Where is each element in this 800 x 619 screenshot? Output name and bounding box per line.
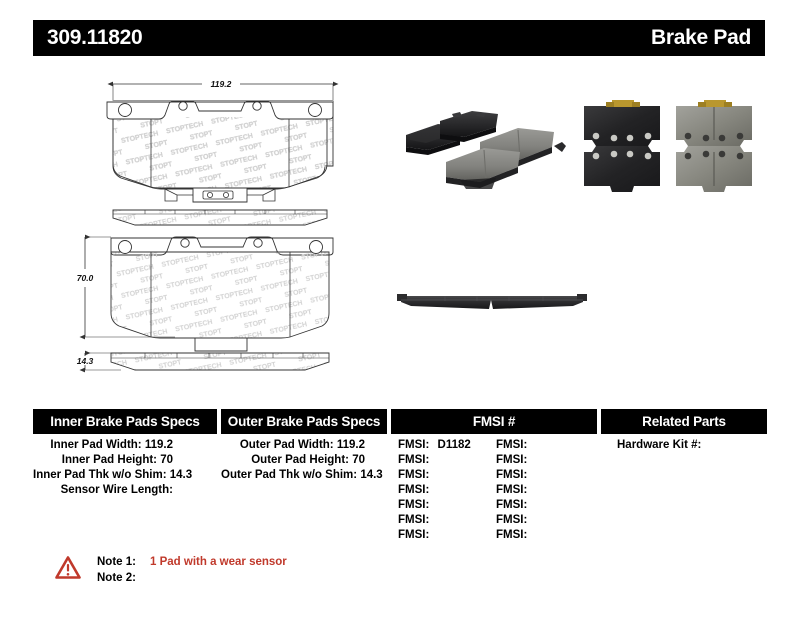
table-header-related-parts: Related Parts — [601, 409, 767, 434]
fmsi-row: FMSI: — [496, 513, 594, 528]
fmsi-subcolumn-right: FMSI: FMSI: FMSI: FMSI: — [496, 438, 594, 543]
pad-flat-top-right — [676, 100, 752, 146]
fmsi-row: FMSI: — [496, 483, 594, 498]
table-body: Inner Pad Width: 119.2 Inner Pad Height:… — [33, 438, 763, 543]
fmsi-row: FMSI: — [398, 483, 496, 498]
part-number: 309.11820 — [47, 26, 142, 50]
fmsi-label-l6: FMSI: — [398, 528, 429, 543]
pad-outline-front — [107, 101, 333, 202]
fmsi-value-l0: D1182 — [433, 438, 471, 453]
outer-spec-value-2: 14.3 — [360, 469, 382, 481]
fmsi-row: FMSI: — [398, 453, 496, 468]
related-parts-column: Hardware Kit #: — [601, 438, 767, 543]
related-part-label-0: Hardware Kit #: — [617, 439, 701, 451]
related-part-row: Hardware Kit #: — [601, 438, 767, 453]
specs-table: Inner Brake Pads Specs Outer Brake Pads … — [33, 409, 763, 543]
inner-spec-value-1: 70 — [160, 454, 173, 466]
outer-specs-column: Outer Pad Width: 119.2 Outer Pad Height:… — [221, 438, 387, 543]
fmsi-label-r1: FMSI: — [496, 453, 527, 468]
pad-flat-top-left — [584, 100, 660, 146]
outer-spec-value-0: 119.2 — [337, 439, 365, 451]
fmsi-row: FMSI: — [496, 468, 594, 483]
inner-spec-row: Inner Pad Width: 119.2 — [33, 438, 217, 453]
fmsi-row: FMSI: — [496, 438, 594, 453]
fmsi-row: FMSI: — [398, 528, 496, 543]
fmsi-label-r5: FMSI: — [496, 513, 527, 528]
outer-spec-label-1: Outer Pad Height: — [251, 454, 349, 466]
table-header-fmsi: FMSI # — [391, 409, 597, 434]
inner-spec-value-2: 14.3 — [170, 469, 192, 481]
inner-spec-row: Sensor Wire Length: — [33, 483, 217, 498]
fmsi-label-r6: FMSI: — [496, 528, 527, 543]
warning-triangle-icon — [55, 555, 81, 581]
fmsi-label-r3: FMSI: — [496, 483, 527, 498]
outer-spec-value-1: 70 — [352, 454, 365, 466]
fmsi-label-r2: FMSI: — [496, 468, 527, 483]
fmsi-subcolumn-left: FMSI: D1182 FMSI: FMSI: FMSI: — [398, 438, 496, 543]
brake-pad-spec-sheet: 309.11820 Brake Pad STOPTECH STOPTECH — [0, 0, 800, 619]
photo-angled-pad-group — [400, 90, 575, 200]
inner-specs-column: Inner Pad Width: 119.2 Inner Pad Height:… — [33, 438, 217, 543]
notes-section: Note 1: 1 Pad with a wear sensor Note 2: — [55, 553, 475, 586]
dimension-label-width: 119.2 — [211, 79, 232, 89]
outer-spec-row: Outer Pad Width: 119.2 — [221, 438, 387, 453]
pad-flat-bottom-left — [584, 146, 660, 192]
note-row-1: Note 1: 1 Pad with a wear sensor — [97, 554, 287, 570]
fmsi-label-r4: FMSI: — [496, 498, 527, 513]
pad-flat-bottom-right — [676, 146, 752, 192]
fmsi-row: FMSI: — [398, 468, 496, 483]
fmsi-label-l4: FMSI: — [398, 498, 429, 513]
pad-photo-2 — [440, 111, 498, 142]
pad-edge-profile-side — [111, 353, 329, 370]
fmsi-label-l1: FMSI: — [398, 453, 429, 468]
fmsi-label-l5: FMSI: — [398, 513, 429, 528]
notes-text-block: Note 1: 1 Pad with a wear sensor Note 2: — [97, 553, 287, 586]
pad-edge-profile-front — [113, 210, 327, 225]
drawing-side-view: STOPTECH STOPTECH 70.0 — [105, 225, 355, 380]
dimension-width-119: 119.2 — [113, 79, 333, 100]
fmsi-row: FMSI: — [496, 453, 594, 468]
inner-spec-row: Inner Pad Thk w/o Shim: 14.3 — [33, 468, 217, 483]
note-label-2: Note 2: — [97, 570, 143, 586]
outer-spec-label-0: Outer Pad Width: — [240, 439, 334, 451]
fmsi-label-r0: FMSI: — [496, 438, 527, 453]
note-value-1: 1 Pad with a wear sensor — [143, 554, 287, 570]
fmsi-label-l2: FMSI: — [398, 468, 429, 483]
outer-spec-row: Outer Pad Height: 70 — [221, 453, 387, 468]
dimension-label-height: 70.0 — [77, 273, 94, 283]
inner-spec-label-1: Inner Pad Height: — [62, 454, 157, 466]
photo-pad-edge-view — [397, 270, 587, 325]
outer-spec-row: Outer Pad Thk w/o Shim: 14.3 — [221, 468, 387, 483]
inner-spec-label-0: Inner Pad Width: — [50, 439, 141, 451]
fmsi-row: FMSI: — [398, 498, 496, 513]
fmsi-row: FMSI: — [496, 528, 594, 543]
fmsi-row: FMSI: D1182 — [398, 438, 496, 453]
fmsi-column: FMSI: D1182 FMSI: FMSI: FMSI: — [391, 438, 597, 543]
inner-spec-row: Inner Pad Height: 70 — [33, 453, 217, 468]
fmsi-row: FMSI: — [496, 498, 594, 513]
inner-spec-value-0: 119.2 — [145, 439, 173, 451]
dimension-label-thickness: 14.3 — [77, 356, 94, 366]
fmsi-label-l3: FMSI: — [398, 483, 429, 498]
media-area: STOPTECH STOPTECH 119.2 — [0, 60, 800, 390]
table-header-outer-specs: Outer Brake Pads Specs — [221, 409, 387, 434]
page-title: Brake Pad — [651, 26, 751, 50]
table-header-row: Inner Brake Pads Specs Outer Brake Pads … — [33, 409, 763, 434]
note-row-2: Note 2: — [97, 570, 287, 586]
pad-photo-4 — [446, 148, 520, 189]
pad-outline-side — [111, 237, 333, 351]
fmsi-label-l0: FMSI: — [398, 438, 429, 453]
fmsi-row: FMSI: — [398, 513, 496, 528]
table-header-inner-specs: Inner Brake Pads Specs — [33, 409, 217, 434]
header-bar: 309.11820 Brake Pad — [33, 20, 765, 56]
photo-flat-pad-group — [560, 88, 760, 203]
note-value-2 — [143, 570, 150, 586]
drawing-front-view: STOPTECH STOPTECH 119.2 — [105, 70, 355, 220]
note-label-1: Note 1: — [97, 554, 143, 570]
inner-spec-label-3: Sensor Wire Length: — [61, 484, 173, 496]
outer-spec-label-2: Outer Pad Thk w/o Shim: — [221, 469, 357, 481]
inner-spec-label-2: Inner Pad Thk w/o Shim: — [33, 469, 167, 481]
